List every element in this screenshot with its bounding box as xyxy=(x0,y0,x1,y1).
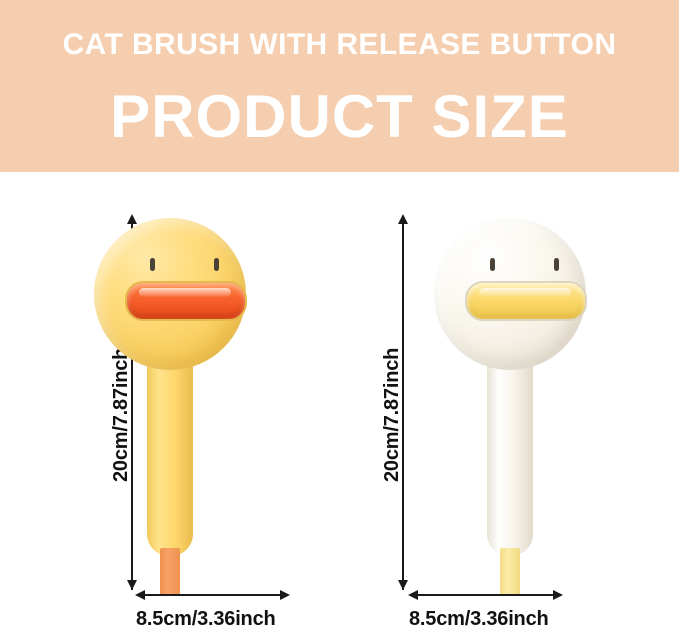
brush-head-yellow xyxy=(94,218,246,370)
width-label-yellow: 8.5cm/3.36inch xyxy=(136,608,276,631)
brush-eye-left-icon xyxy=(490,258,495,271)
brush-eye-right-icon xyxy=(554,258,559,271)
width-arrow-left-yellow xyxy=(135,590,145,600)
product-size-infographic: CAT BRUSH WITH RELEASE BUTTON PRODUCT SI… xyxy=(0,0,679,637)
height-label-white: 20cm/7.87inch xyxy=(381,348,404,482)
product-panel-white: 20cm/7.87inch 8.5cm/3.36inch xyxy=(340,172,679,637)
brush-release-tip-yellow xyxy=(160,548,180,596)
width-arrow-right-yellow xyxy=(280,590,290,600)
width-dimension-line-white xyxy=(418,594,553,596)
cat-brush-white xyxy=(420,218,600,588)
width-label-white: 8.5cm/3.36inch xyxy=(409,608,549,631)
release-button-gloss xyxy=(139,288,231,297)
brush-eye-left-icon xyxy=(150,258,155,271)
height-arrow-up-white xyxy=(398,214,408,224)
release-button-white[interactable] xyxy=(465,281,587,321)
height-arrow-down-white xyxy=(398,580,408,590)
brush-release-tip-white xyxy=(500,548,520,596)
width-arrow-left-white xyxy=(408,590,418,600)
brush-eye-right-icon xyxy=(214,258,219,271)
brush-head-white xyxy=(434,218,586,370)
release-button-gloss xyxy=(479,288,571,297)
cat-brush-yellow xyxy=(80,218,260,588)
width-arrow-right-white xyxy=(553,590,563,600)
product-panel-yellow: 20cm/7.87inch 8.5cm/3.36inch xyxy=(0,172,340,637)
page-title: PRODUCT SIZE xyxy=(0,85,679,149)
width-dimension-line-yellow xyxy=(145,594,280,596)
release-button-yellow[interactable] xyxy=(125,281,247,321)
header-subtitle: CAT BRUSH WITH RELEASE BUTTON xyxy=(0,28,679,62)
header-banner: CAT BRUSH WITH RELEASE BUTTON PRODUCT SI… xyxy=(0,0,679,172)
